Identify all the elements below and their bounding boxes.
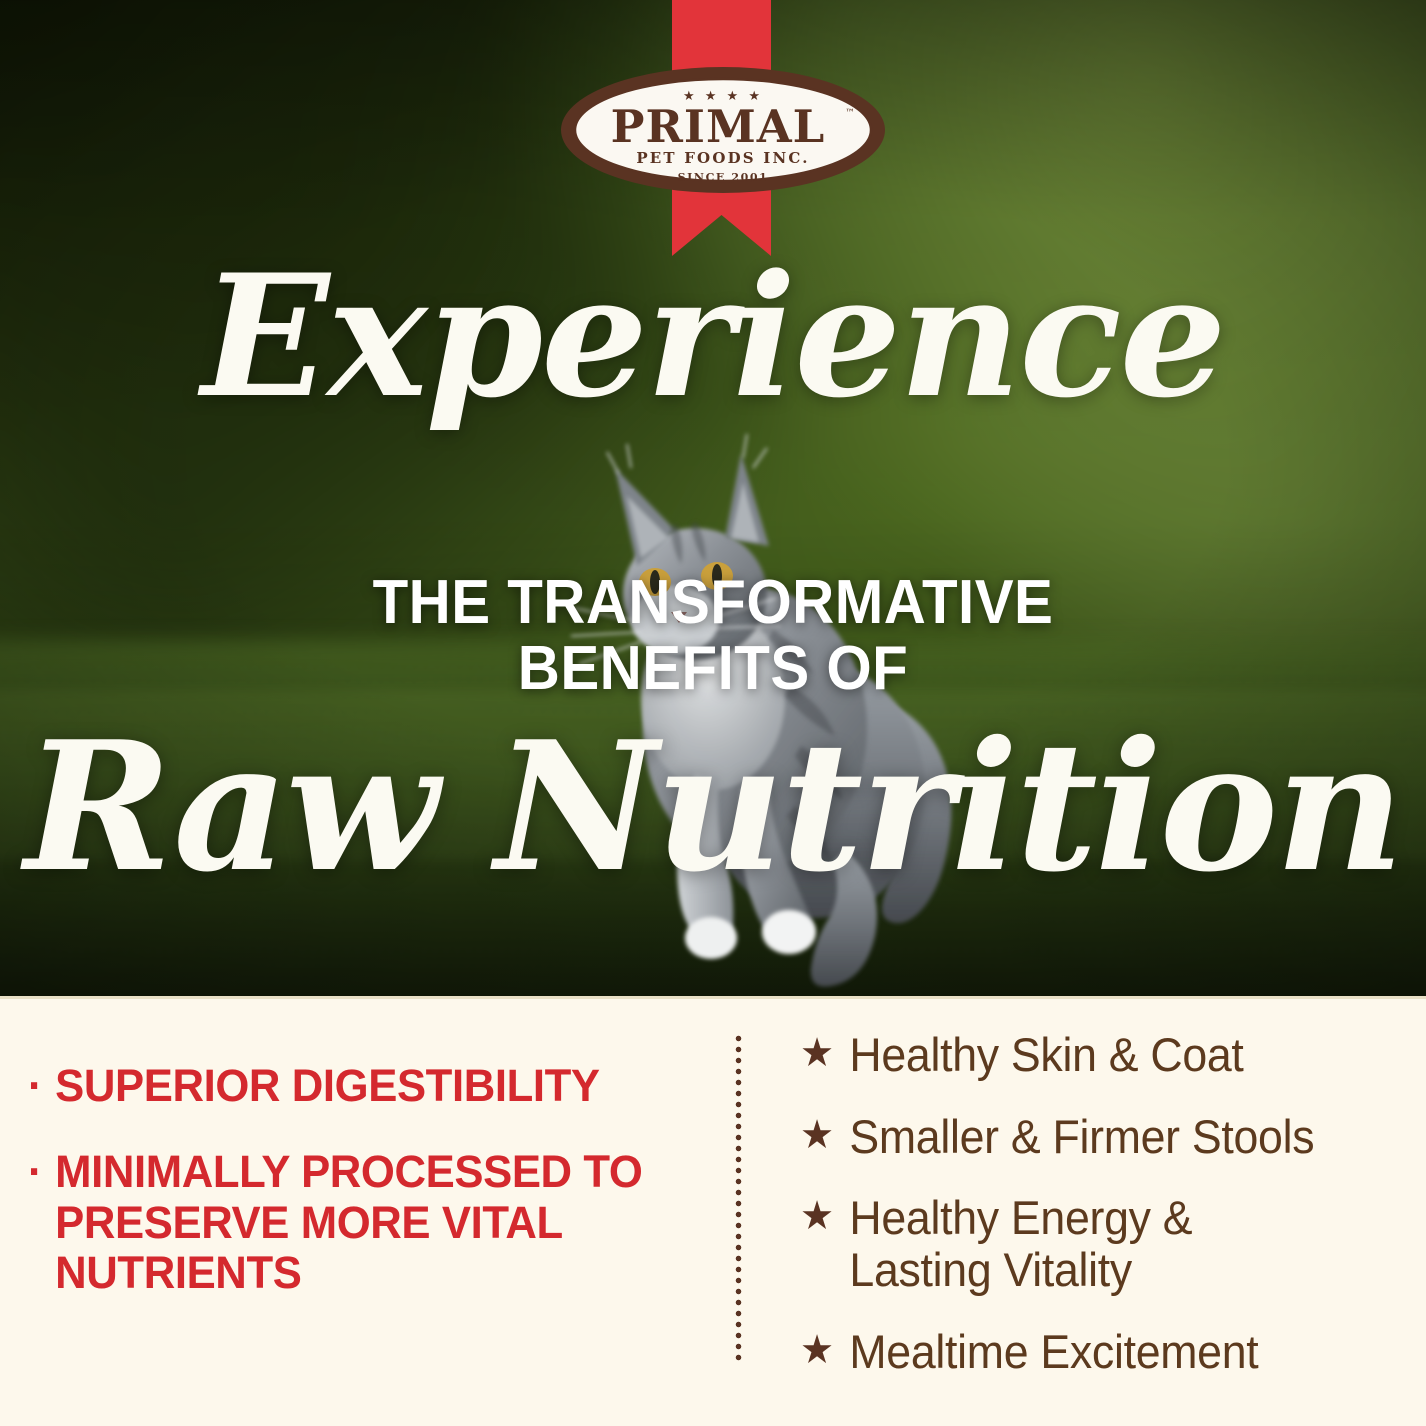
list-item: ★ Mealtime Excitement [800, 1326, 1376, 1378]
list-item: · SUPERIOR DIGESTIBILITY [28, 1061, 674, 1111]
list-item: · MINIMALLY PROCESSED TO PRESERVE MORE V… [28, 1147, 674, 1298]
headline-line-2: BENEFITS OF [43, 636, 1383, 702]
primal-logo[interactable]: ★ ★ ★ ★ PRIMAL ™ PET FOODS INC. SINCE 20… [558, 64, 888, 196]
benefits-panel: · SUPERIOR DIGESTIBILITY · MINIMALLY PRO… [0, 996, 1426, 1426]
benefit-line-1: Healthy Skin & Coat [849, 1028, 1243, 1081]
benefit-label: Healthy Energy & Lasting Vitality [849, 1192, 1375, 1295]
bullet-dot-icon: · [28, 1061, 49, 1111]
headline-raw-nutrition: Raw Nutrition [0, 718, 1426, 896]
benefit-label: Smaller & Firmer Stools [849, 1111, 1375, 1163]
benefits-column: ★ Healthy Skin & Coat ★ Smaller & Firmer… [738, 999, 1426, 1426]
list-item: ★ Smaller & Firmer Stools [800, 1111, 1376, 1163]
claim-label: MINIMALLY PROCESSED TO PRESERVE MORE VIT… [55, 1147, 674, 1298]
benefit-line-1: Healthy Energy & [849, 1191, 1192, 1244]
headline-transformative-benefits: THE TRANSFORMATIVE BENEFITS OF [43, 570, 1383, 701]
benefit-label: Healthy Skin & Coat [849, 1029, 1375, 1081]
key-claims-column: · SUPERIOR DIGESTIBILITY · MINIMALLY PRO… [0, 999, 738, 1426]
headline-experience: Experience [0, 252, 1426, 420]
dotted-divider [735, 1033, 742, 1365]
star-icon: ★ [800, 1192, 849, 1242]
star-icon: ★ [800, 1111, 849, 1161]
claim-label: SUPERIOR DIGESTIBILITY [55, 1061, 674, 1111]
hero-photo-section: ★ ★ ★ ★ PRIMAL ™ PET FOODS INC. SINCE 20… [0, 0, 1426, 996]
svg-text:™: ™ [845, 108, 855, 119]
headline-line-1: THE TRANSFORMATIVE [373, 568, 1054, 637]
svg-text:PRIMAL: PRIMAL [611, 100, 826, 153]
list-item: ★ Healthy Energy & Lasting Vitality [800, 1192, 1376, 1295]
benefit-line-1: Mealtime Excitement [849, 1325, 1258, 1378]
benefit-line-2: Lasting Vitality [849, 1244, 1375, 1296]
benefit-label: Mealtime Excitement [849, 1326, 1375, 1378]
bullet-dot-icon: · [28, 1147, 49, 1197]
svg-text:SINCE 2001: SINCE 2001 [678, 171, 769, 184]
star-icon: ★ [800, 1326, 849, 1376]
svg-text:PET FOODS INC.: PET FOODS INC. [636, 149, 809, 167]
list-item: ★ Healthy Skin & Coat [800, 1029, 1376, 1081]
benefit-line-1: Smaller & Firmer Stools [849, 1110, 1314, 1163]
primal-raw-nutrition-ad: ★ ★ ★ ★ PRIMAL ™ PET FOODS INC. SINCE 20… [0, 0, 1426, 1426]
star-icon: ★ [800, 1029, 849, 1079]
